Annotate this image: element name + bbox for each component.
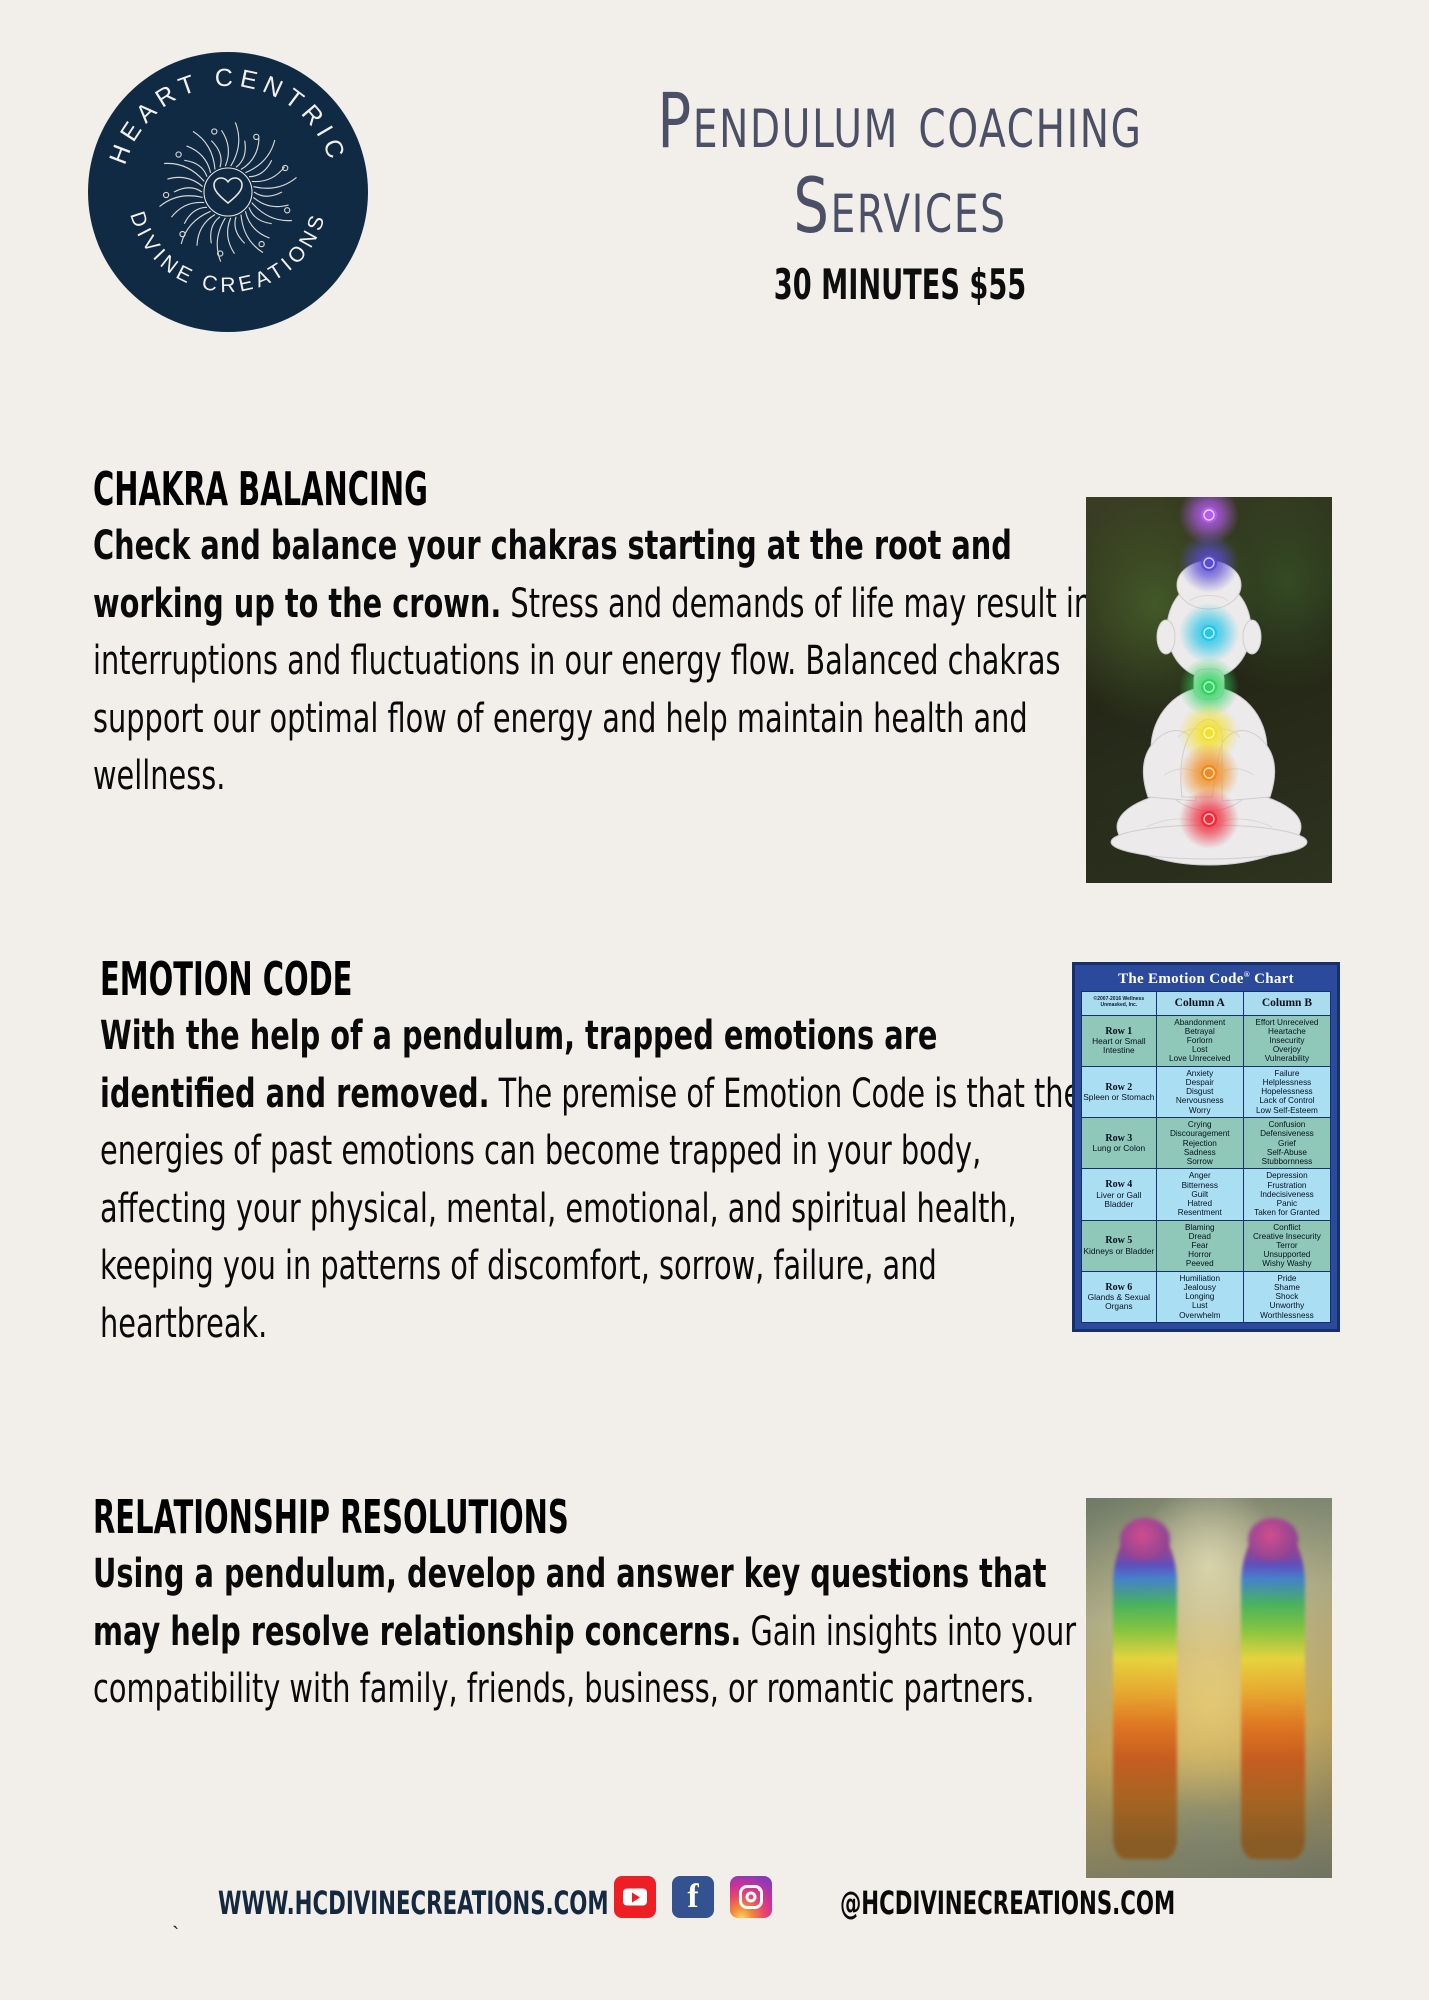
aura-figure-left xyxy=(1113,1525,1177,1859)
ecc-copyright: ©2007-2016 Wellness Unmasked, Inc. xyxy=(1082,991,1157,1015)
facebook-icon[interactable]: f xyxy=(672,1876,714,1918)
page-title-line-2: Services xyxy=(490,163,1310,248)
logo-artwork: HEART CENTRIC DIVINE CREATIONS xyxy=(88,52,368,332)
ecc-title-main: The Emotion Code xyxy=(1118,971,1244,987)
logo-circle: HEART CENTRIC DIVINE CREATIONS xyxy=(88,52,368,332)
table-row: Row 1Heart or Small IntestineAbandonment… xyxy=(1082,1015,1331,1066)
aura-figure-right-head xyxy=(1248,1518,1298,1561)
ecc-row-4-column-a: BlamingDreadFearHorrorPeeved xyxy=(1156,1220,1243,1271)
buddha-chakra-photo xyxy=(1086,497,1332,883)
footer-social-handle[interactable]: @HCDIVINECREATIONS.COM xyxy=(840,1884,1175,1922)
svg-text:DIVINE CREATIONS: DIVINE CREATIONS xyxy=(125,209,330,298)
ecc-row-label-3: Row 4Liver or Gall Bladder xyxy=(1082,1169,1157,1220)
aura-figure-left-head xyxy=(1120,1518,1170,1561)
section-chakra-balancing: CHAKRA BALANCING Check and balance your … xyxy=(93,462,1093,806)
table-row: Row 6Glands & Sexual OrgansHumiliationJe… xyxy=(1082,1271,1331,1322)
instagram-camera-glyph xyxy=(739,1885,763,1909)
table-row: Row 5Kidneys or BladderBlamingDreadFearH… xyxy=(1082,1220,1331,1271)
ecc-row-3-column-b: DepressionFrustrationIndecisivenessPanic… xyxy=(1243,1169,1330,1220)
ecc-row-1-column-a: AnxietyDespairDisgustNervousnessWorry xyxy=(1156,1066,1243,1117)
footer-stray-mark: ` xyxy=(172,1922,179,1948)
ecc-row-label-2: Row 3Lung or Colon xyxy=(1082,1118,1157,1169)
emotion-code-chart: The Emotion Code® Chart ©2007-2016 Welln… xyxy=(1072,962,1340,1332)
page-title-line-1: Pendulum coaching xyxy=(657,76,1142,165)
buddha-statue-figure xyxy=(1086,497,1332,883)
ecc-row-2-column-a: CryingDiscouragementRejectionSadnessSorr… xyxy=(1156,1118,1243,1169)
section-emotion-code: EMOTION CODE With the help of a pendulum… xyxy=(100,952,1100,1354)
table-row: Row 2Spleen or StomachAnxietyDespairDisg… xyxy=(1082,1066,1331,1117)
table-row: Row 4Liver or Gall BladderAngerBitternes… xyxy=(1082,1169,1331,1220)
ecc-column-header-1: Column B xyxy=(1243,991,1330,1015)
ecc-row-0-column-b: Effort UnreceivedHeartacheInsecurityOver… xyxy=(1243,1015,1330,1066)
table-row: Row 3Lung or ColonCryingDiscouragementRe… xyxy=(1082,1118,1331,1169)
section-body-chakra-balancing: Check and balance your chakras starting … xyxy=(93,518,1093,806)
ecc-row-label-0: Row 1Heart or Small Intestine xyxy=(1082,1015,1157,1066)
emotion-code-chart-title: The Emotion Code® Chart xyxy=(1081,968,1331,991)
table-header-row: ©2007-2016 Wellness Unmasked, Inc.Column… xyxy=(1082,991,1331,1015)
ecc-row-label-4: Row 5Kidneys or Bladder xyxy=(1082,1220,1157,1271)
section-heading-relationship-resolutions: RELATIONSHIP RESOLUTIONS xyxy=(93,1490,793,1544)
emotion-code-chart-inner: The Emotion Code® Chart ©2007-2016 Welln… xyxy=(1072,962,1340,1332)
instagram-icon[interactable] xyxy=(730,1876,772,1918)
ecc-row-3-column-a: AngerBitternessGuiltHatredResentment xyxy=(1156,1169,1243,1220)
ecc-row-5-column-a: HumiliationJealousyLongingLustOverwhelm xyxy=(1156,1271,1243,1322)
ecc-row-5-column-b: PrideShameShockUnworthyWorthlessness xyxy=(1243,1271,1330,1322)
section-heading-chakra-balancing: CHAKRA BALANCING xyxy=(93,462,793,516)
section-relationship-resolutions: RELATIONSHIP RESOLUTIONS Using a pendulu… xyxy=(93,1490,1093,1719)
aura-couple-photo xyxy=(1086,1498,1332,1878)
ecc-row-2-column-b: ConfusionDefensivenessGriefSelf-AbuseStu… xyxy=(1243,1118,1330,1169)
ecc-row-label-5: Row 6Glands & Sexual Organs xyxy=(1082,1271,1157,1322)
ecc-row-label-1: Row 2Spleen or Stomach xyxy=(1082,1066,1157,1117)
instagram-lens-glyph xyxy=(746,1892,757,1903)
ecc-column-header-0: Column A xyxy=(1156,991,1243,1015)
youtube-play-glyph xyxy=(623,1889,647,1906)
facebook-f-glyph: f xyxy=(687,1880,698,1914)
section-heading-emotion-code: EMOTION CODE xyxy=(100,952,800,1006)
youtube-icon[interactable] xyxy=(614,1876,656,1918)
page-title: Pendulum coaching Services xyxy=(490,78,1310,248)
price-label: 30 MINUTES $55 xyxy=(540,260,1260,309)
brand-logo[interactable]: HEART CENTRIC DIVINE CREATIONS xyxy=(88,52,368,332)
title-block: Pendulum coaching Services 30 MINUTES $5… xyxy=(400,78,1400,309)
page-header: HEART CENTRIC DIVINE CREATIONS Pendulum … xyxy=(0,0,1429,400)
instagram-flash-dot xyxy=(758,1887,762,1891)
emotion-code-table: ©2007-2016 Wellness Unmasked, Inc.Column… xyxy=(1081,991,1331,1324)
section-body-emotion-code: With the help of a pendulum, trapped emo… xyxy=(100,1008,1100,1354)
section-body-relationship-resolutions: Using a pendulum, develop and answer key… xyxy=(93,1546,1093,1719)
ecc-row-0-column-a: AbandonmentBetrayalForlornLostLove Unrec… xyxy=(1156,1015,1243,1066)
aura-figure-right xyxy=(1241,1525,1305,1859)
ecc-row-1-column-b: FailureHelplessnessHopelessnessLack of C… xyxy=(1243,1066,1330,1117)
footer-website-link[interactable]: WWW.HCDIVINECREATIONS.COM xyxy=(218,1884,609,1922)
footer-social-links: f xyxy=(614,1876,772,1918)
ecc-row-4-column-b: ConflictCreative InsecurityTerrorUnsuppo… xyxy=(1243,1220,1330,1271)
ecc-title-tail: Chart xyxy=(1250,971,1294,987)
